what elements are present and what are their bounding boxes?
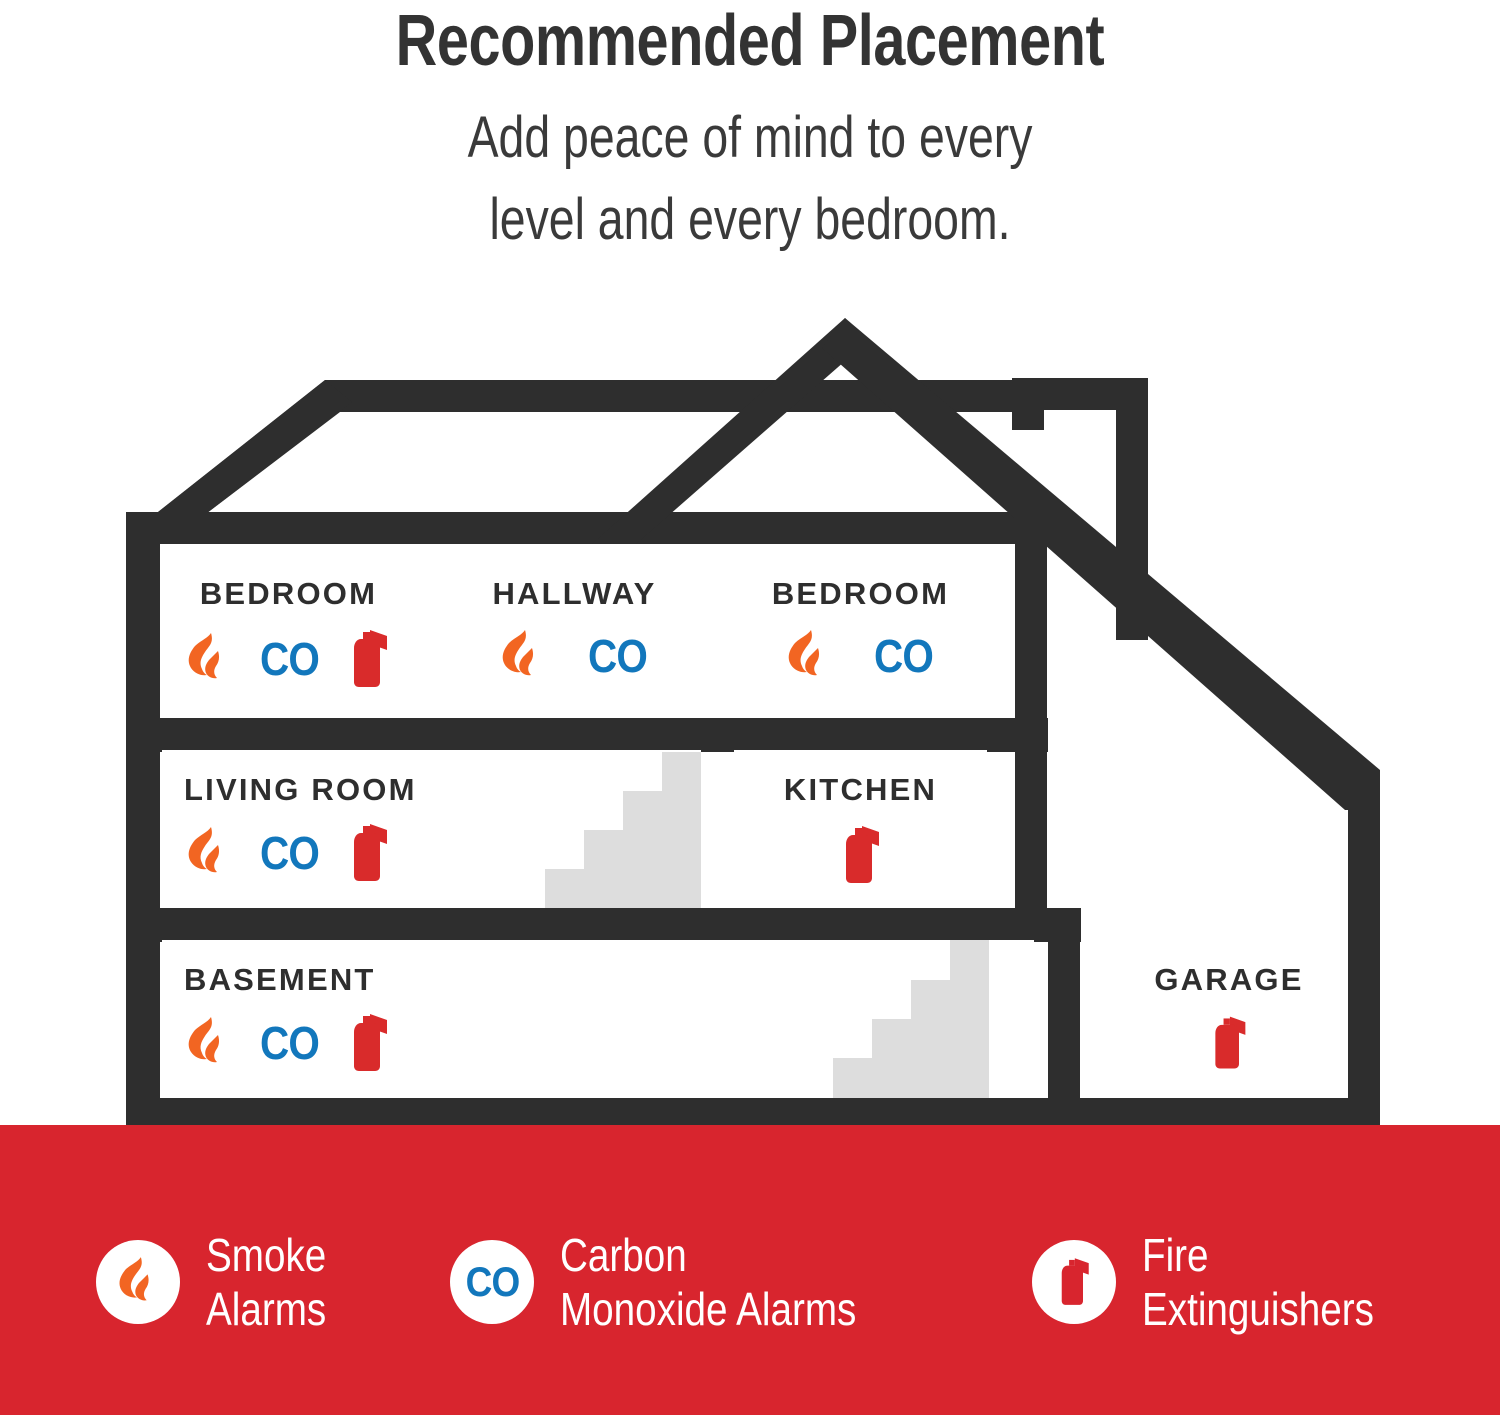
legend-label-line2: Monoxide Alarms (560, 1282, 856, 1336)
room-garage: GARAGE (1113, 940, 1345, 1098)
stairs-lower (833, 940, 989, 1098)
co-badge-text: CO (465, 1258, 519, 1306)
room-label: KITCHEN (784, 772, 937, 808)
room-icon-group: CO (734, 628, 987, 684)
legend-label-line1: Smoke (206, 1228, 326, 1282)
smoke-alarm-icon (784, 628, 832, 684)
legend-item-smoke-alarms: Smoke Alarms (96, 1228, 349, 1337)
co-alarm-icon: CO (450, 1240, 534, 1324)
room-icon-group (1113, 1014, 1345, 1072)
room-label: HALLWAY (492, 576, 656, 612)
room-label: BASEMENT (184, 962, 376, 998)
room-bedroom-left: BEDROOM CO (162, 552, 415, 714)
room-hallway: HALLWAY CO (448, 552, 701, 714)
smoke-alarm-icon (184, 1015, 232, 1071)
room-label: BEDROOM (772, 576, 949, 612)
smoke-alarm-icon (184, 825, 232, 881)
legend-label: Carbon Monoxide Alarms (560, 1228, 856, 1337)
legend-label-line2: Extinguishers (1142, 1282, 1374, 1336)
co-alarm-icon: CO (260, 826, 319, 880)
smoke-alarm-icon (498, 628, 546, 684)
stairs-upper (545, 752, 701, 908)
page-subtitle-line2: level and every bedroom. (150, 180, 1350, 260)
legend-bar: Smoke Alarms CO Carbon Monoxide Alarms (0, 1125, 1500, 1415)
co-alarm-icon: CO (588, 629, 647, 683)
page-subtitle-line1: Add peace of mind to every (150, 98, 1350, 178)
legend-label: Fire Extinguishers (1142, 1228, 1374, 1337)
house-diagram: BEDROOM CO HALLWAY CO BEDROOM (0, 300, 1500, 1130)
fire-extinguisher-icon (839, 824, 883, 886)
infographic-page: Recommended Placement Add peace of mind … (0, 0, 1500, 1415)
room-label: LIVING ROOM (184, 772, 417, 808)
legend-item-fire-extinguishers: Fire Extinguishers (1032, 1228, 1418, 1337)
legend-item-co-alarms: CO Carbon Monoxide Alarms (450, 1228, 913, 1337)
smoke-alarm-icon (184, 631, 232, 687)
legend-items: Smoke Alarms CO Carbon Monoxide Alarms (0, 1125, 1500, 1415)
co-alarm-icon: CO (260, 1016, 319, 1070)
room-label: BEDROOM (200, 576, 377, 612)
legend-label: Smoke Alarms (206, 1228, 326, 1337)
legend-label-line1: Carbon (560, 1228, 856, 1282)
legend-label-line2: Alarms (206, 1282, 326, 1336)
room-bedroom-right: BEDROOM CO (734, 552, 987, 714)
co-alarm-icon: CO (874, 629, 933, 683)
room-icon-group: CO (162, 628, 415, 690)
smoke-alarm-icon (96, 1240, 180, 1324)
co-alarm-icon: CO (260, 632, 319, 686)
header: Recommended Placement Add peace of mind … (0, 0, 1500, 300)
legend-label-line1: Fire (1142, 1228, 1374, 1282)
room-kitchen: KITCHEN (734, 750, 987, 908)
fire-extinguisher-icon (347, 822, 391, 884)
room-icon-group (734, 824, 987, 886)
page-title: Recommended Placement (150, 4, 1350, 80)
fire-extinguisher-icon (347, 1012, 391, 1074)
room-label: GARAGE (1154, 962, 1303, 998)
room-icon-group: CO (448, 628, 701, 684)
fire-extinguisher-icon (1209, 1014, 1249, 1072)
fire-extinguisher-icon (1032, 1240, 1116, 1324)
fire-extinguisher-icon (347, 628, 391, 690)
